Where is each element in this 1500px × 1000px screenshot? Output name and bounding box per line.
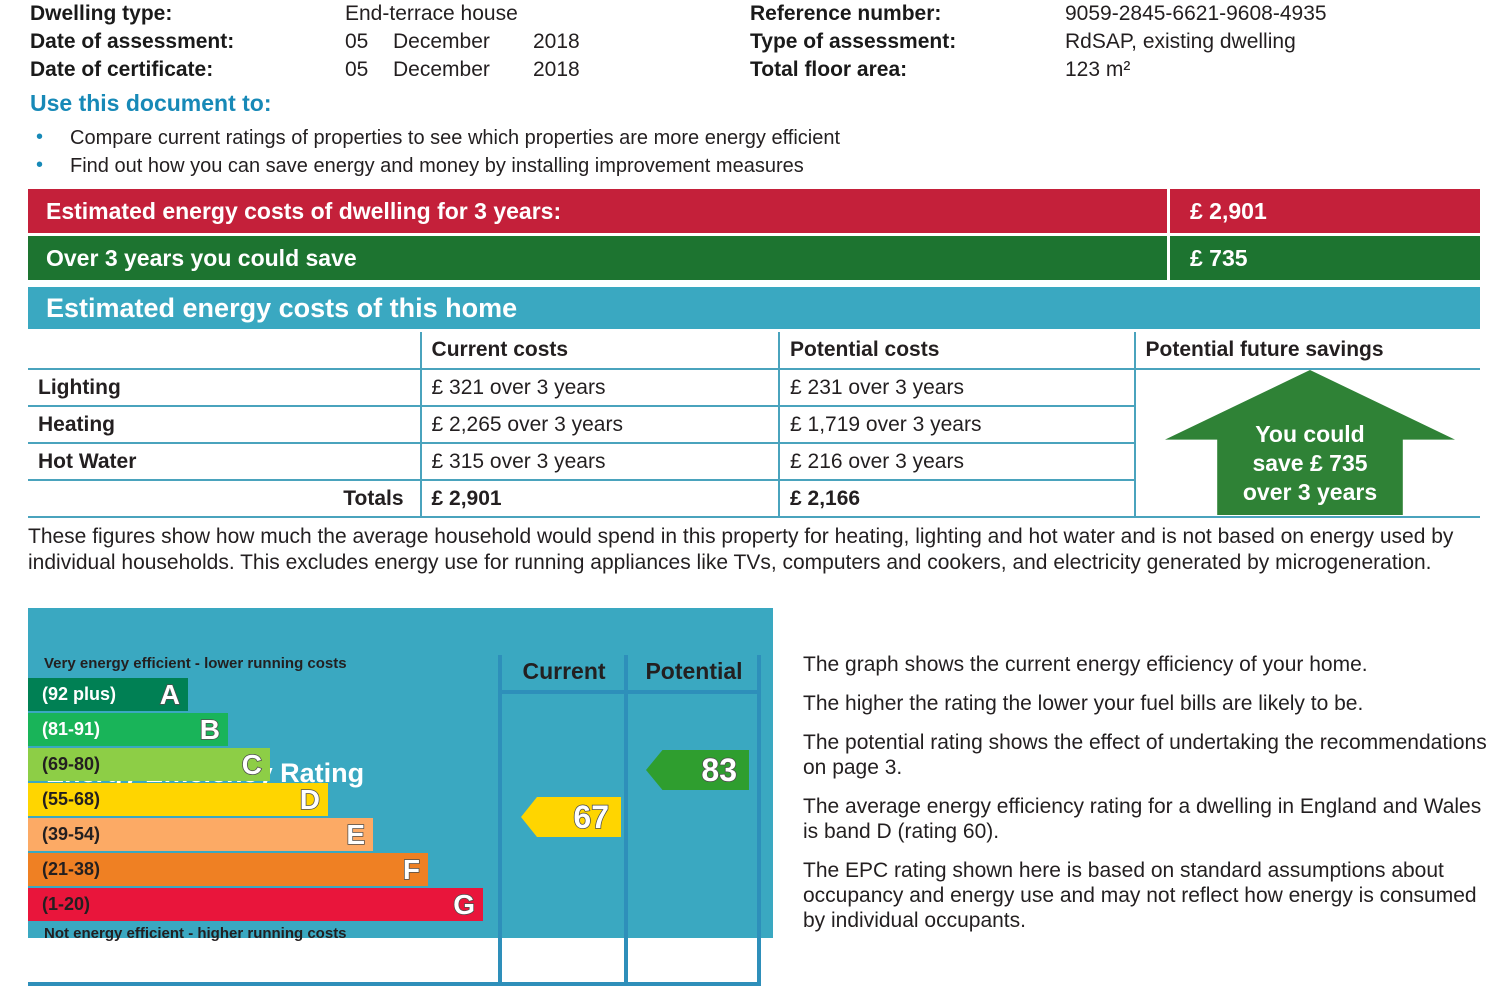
savings-house-line3: over 3 years	[1243, 478, 1377, 507]
certificate-meta: Dwelling type: End-terrace house Date of…	[30, 2, 1480, 86]
meta-column-right: Reference number: 9059-2845-6621-9608-49…	[750, 2, 1327, 86]
eer-text-paragraph-5: The EPC rating shown here is based on st…	[803, 858, 1491, 933]
eer-band-a-range: (92 plus)	[42, 684, 116, 705]
eer-band-a-letter: A	[160, 681, 180, 709]
meta-label-reference-number: Reference number:	[750, 2, 1065, 26]
eer-text-paragraph-2: The higher the rating the lower your fue…	[803, 691, 1491, 716]
estimated-energy-costs-label: Estimated energy costs of dwelling for 3…	[28, 198, 1167, 225]
eer-band-b-range: (81-91)	[42, 719, 100, 740]
eer-column-rule-left	[498, 655, 502, 985]
meta-label-total-floor-area: Total floor area:	[750, 58, 1065, 82]
eer-column-header-current: Current	[503, 658, 625, 685]
eer-chart: Very energy efficient - lower running co…	[28, 655, 773, 985]
meta-label-type-of-assessment: Type of assessment:	[750, 30, 1065, 54]
eer-bottom-rule	[28, 982, 761, 986]
meta-value-date-of-certificate: 05 December 2018	[345, 58, 580, 82]
eer-header-rule-current	[498, 690, 628, 694]
certificate-day: 05	[345, 58, 393, 82]
bullet-icon: •	[30, 126, 70, 150]
row-label-totals: Totals	[28, 480, 421, 517]
meta-row-reference-number: Reference number: 9059-2845-6621-9608-49…	[750, 2, 1327, 30]
table-header-potential-costs: Potential costs	[779, 332, 1134, 369]
table-header-current-costs: Current costs	[421, 332, 779, 369]
estimated-energy-costs-amount: £ 2,901	[1167, 189, 1480, 233]
meta-row-total-floor-area: Total floor area: 123 m²	[750, 58, 1327, 86]
certificate-year: 2018	[533, 58, 580, 82]
meta-column-left: Dwelling type: End-terrace house Date of…	[30, 2, 750, 86]
eer-caption-bottom: Not energy efficient - higher running co…	[28, 925, 773, 942]
eer-header-rule-potential	[624, 690, 761, 694]
eer-text-paragraph-4: The average energy efficiency rating for…	[803, 794, 1491, 844]
meta-value-type-of-assessment: RdSAP, existing dwelling	[1065, 30, 1296, 54]
potential-savings-bar: Over 3 years you could save £ 735	[28, 236, 1480, 280]
eer-band-e-range: (39-54)	[42, 824, 100, 845]
eer-band-d-letter: D	[300, 786, 320, 814]
eer-band-c-range: (69-80)	[42, 754, 100, 775]
cell-hot-water-current: £ 315 over 3 years	[421, 443, 779, 480]
list-item-label: Compare current ratings of properties to…	[70, 126, 840, 150]
meta-label-dwelling-type: Dwelling type:	[30, 2, 345, 26]
eer-band-c-letter: C	[242, 751, 262, 779]
eer-potential-rating-pointer: 83	[646, 750, 749, 790]
meta-value-total-floor-area: 123 m²	[1065, 58, 1130, 82]
meta-label-date-of-assessment: Date of assessment:	[30, 30, 345, 54]
meta-row-date-of-assessment: Date of assessment: 05 December 2018	[30, 30, 750, 58]
eer-column-rule-right	[757, 655, 761, 985]
costs-explanatory-note: These figures show how much the average …	[28, 524, 1478, 576]
cell-hot-water-potential: £ 216 over 3 years	[779, 443, 1134, 480]
table-header-row: Current costs Potential costs Potential …	[28, 332, 1480, 369]
table-header-potential-savings: Potential future savings	[1135, 332, 1481, 369]
certificate-month: December	[393, 58, 533, 82]
assessment-day: 05	[345, 30, 393, 54]
table-header-item	[28, 332, 421, 369]
eer-band-g-range: (1-20)	[42, 894, 90, 915]
eer-band-g: (1-20) G	[28, 888, 483, 921]
cell-lighting-current: £ 321 over 3 years	[421, 369, 779, 406]
meta-row-dwelling-type: Dwelling type: End-terrace house	[30, 2, 750, 30]
eer-band-b-letter: B	[200, 716, 220, 744]
meta-value-dwelling-type: End-terrace house	[345, 2, 518, 26]
eer-band-g-letter: G	[453, 891, 475, 919]
estimated-energy-costs-bar: Estimated energy costs of dwelling for 3…	[28, 189, 1480, 233]
eer-band-a: (92 plus) A	[28, 678, 188, 711]
meta-row-date-of-certificate: Date of certificate: 05 December 2018	[30, 58, 750, 86]
eer-text-paragraph-1: The graph shows the current energy effic…	[803, 652, 1491, 677]
eer-band-f: (21-38) F	[28, 853, 428, 886]
assessment-year: 2018	[533, 30, 580, 54]
use-document-list: • Compare current ratings of properties …	[30, 126, 1330, 182]
cell-totals-potential: £ 2,166	[779, 480, 1134, 517]
eer-column-rule-middle	[624, 655, 628, 985]
use-document-heading: Use this document to:	[30, 90, 272, 117]
cell-lighting-potential: £ 231 over 3 years	[779, 369, 1134, 406]
eer-band-d-range: (55-68)	[42, 789, 100, 810]
cell-totals-current: £ 2,901	[421, 480, 779, 517]
eer-band-f-letter: F	[403, 856, 420, 884]
list-item: • Find out how you can save energy and m…	[30, 154, 1330, 178]
bullet-icon: •	[30, 154, 70, 178]
eer-column-header-potential: Potential	[629, 658, 759, 685]
potential-savings-label: Over 3 years you could save	[28, 245, 1167, 272]
list-item: • Compare current ratings of properties …	[30, 126, 1330, 150]
eer-band-f-range: (21-38)	[42, 859, 100, 880]
savings-house-line2: save £ 735	[1252, 449, 1367, 478]
eer-current-rating-pointer: 67	[521, 797, 621, 837]
eer-band-e-letter: E	[346, 821, 365, 849]
meta-value-date-of-assessment: 05 December 2018	[345, 30, 580, 54]
assessment-month: December	[393, 30, 533, 54]
potential-savings-amount: £ 735	[1167, 236, 1480, 280]
estimated-costs-section-heading: Estimated energy costs of this home	[28, 287, 1480, 329]
row-label-hot-water: Hot Water	[28, 443, 421, 480]
eer-band-c: (69-80) C	[28, 748, 270, 781]
savings-house-line1: You could	[1255, 420, 1364, 449]
row-label-heating: Heating	[28, 406, 421, 443]
meta-value-reference-number: 9059-2845-6621-9608-4935	[1065, 2, 1327, 26]
eer-explanatory-text: The graph shows the current energy effic…	[803, 652, 1491, 947]
row-label-lighting: Lighting	[28, 369, 421, 406]
meta-label-date-of-certificate: Date of certificate:	[30, 58, 345, 82]
eer-band-d: (55-68) D	[28, 783, 328, 816]
eer-band-e: (39-54) E	[28, 818, 373, 851]
eer-band-b: (81-91) B	[28, 713, 228, 746]
cell-heating-current: £ 2,265 over 3 years	[421, 406, 779, 443]
list-item-label: Find out how you can save energy and mon…	[70, 154, 804, 178]
meta-row-type-of-assessment: Type of assessment: RdSAP, existing dwel…	[750, 30, 1327, 58]
cell-heating-potential: £ 1,719 over 3 years	[779, 406, 1134, 443]
eer-text-paragraph-3: The potential rating shows the effect of…	[803, 730, 1491, 780]
